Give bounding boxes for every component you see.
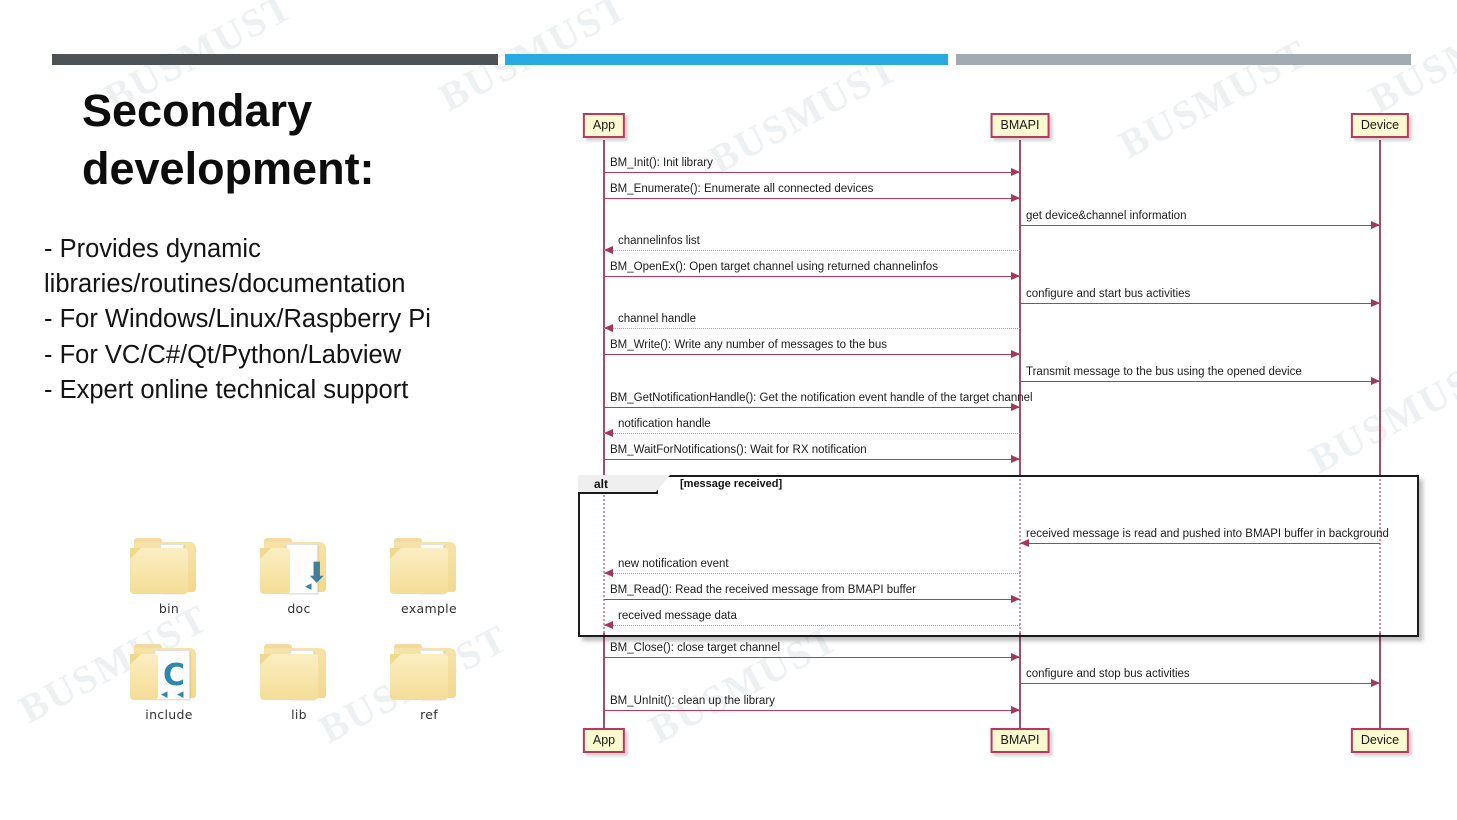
message-arrowhead <box>1371 221 1380 229</box>
message-label: new notification event <box>618 558 729 570</box>
message-label: channelinfos list <box>618 235 700 247</box>
message-label: channel handle <box>618 313 696 325</box>
actor-box-device[interactable]: Device <box>1351 728 1409 753</box>
message-arrowhead <box>1011 194 1020 202</box>
alt-fragment-tag <box>578 475 658 494</box>
message-arrowhead <box>1371 299 1380 307</box>
message-arrowhead <box>1011 706 1020 714</box>
message-label: BM_UnInit(): clean up the library <box>610 695 775 707</box>
actor-box-bmapi[interactable]: BMAPI <box>991 728 1050 753</box>
message-line <box>604 625 1020 626</box>
message-label: BM_Close(): close target channel <box>610 642 780 654</box>
message-label: configure and start bus activities <box>1026 288 1190 300</box>
message-arrowhead <box>1011 403 1020 411</box>
message-label: notification handle <box>618 418 711 430</box>
message-label: BM_Enumerate(): Enumerate all connected … <box>610 183 873 195</box>
message-arrowhead <box>1011 350 1020 358</box>
message-label: BM_Write(): Write any number of messages… <box>610 339 887 351</box>
alt-operator-label: alt <box>594 477 608 491</box>
message-label: BM_Init(): Init library <box>610 157 713 169</box>
alt-condition-label: [message received] <box>680 478 782 490</box>
lifeline-bmapi <box>1019 140 1021 475</box>
message-arrowhead <box>1011 455 1020 463</box>
message-line <box>1020 381 1380 382</box>
message-arrowhead <box>604 569 613 577</box>
message-line <box>1020 683 1380 684</box>
message-arrowhead <box>604 429 613 437</box>
lifeline-app <box>603 633 605 728</box>
lifeline-device <box>1379 140 1381 475</box>
message-line <box>604 433 1020 434</box>
message-line <box>604 276 1020 277</box>
message-arrowhead <box>604 324 613 332</box>
message-arrowhead <box>1011 595 1020 603</box>
message-arrowhead <box>1011 168 1020 176</box>
message-label: received message is read and pushed into… <box>1026 528 1389 540</box>
message-line <box>604 657 1020 658</box>
message-label: BM_Read(): Read the received message fro… <box>610 584 916 596</box>
message-line <box>1020 543 1380 544</box>
message-label: Transmit message to the bus using the op… <box>1026 366 1302 378</box>
lifeline-app <box>603 140 605 475</box>
message-label: get device&channel information <box>1026 210 1186 222</box>
alt-fragment-tag-corner <box>656 475 670 492</box>
actor-box-app[interactable]: App <box>583 113 625 138</box>
message-arrowhead <box>604 621 613 629</box>
message-line <box>604 407 1020 408</box>
message-line <box>604 573 1020 574</box>
message-label: BM_GetNotificationHandle(): Get the noti… <box>610 392 1033 404</box>
message-line <box>604 599 1020 600</box>
message-arrowhead <box>604 246 613 254</box>
message-line <box>1020 225 1380 226</box>
actor-box-device[interactable]: Device <box>1351 113 1409 138</box>
message-line <box>604 710 1020 711</box>
message-label: BM_WaitForNotifications(): Wait for RX n… <box>610 444 867 456</box>
message-line <box>1020 303 1380 304</box>
message-label: configure and stop bus activities <box>1026 668 1190 680</box>
message-arrowhead <box>1020 539 1029 547</box>
message-arrowhead <box>1371 377 1380 385</box>
message-line <box>604 354 1020 355</box>
message-line <box>604 459 1020 460</box>
message-arrowhead <box>1371 679 1380 687</box>
message-arrowhead <box>1011 653 1020 661</box>
message-line <box>604 172 1020 173</box>
message-arrowhead <box>1011 272 1020 280</box>
message-line <box>604 198 1020 199</box>
actor-box-bmapi[interactable]: BMAPI <box>991 113 1050 138</box>
actor-box-app[interactable]: App <box>583 728 625 753</box>
sequence-diagram: alt [message received] BM_Init(): Init l… <box>0 0 1457 820</box>
message-label: BM_OpenEx(): Open target channel using r… <box>610 261 938 273</box>
message-label: received message data <box>618 610 737 622</box>
message-line <box>604 328 1020 329</box>
message-line <box>604 250 1020 251</box>
